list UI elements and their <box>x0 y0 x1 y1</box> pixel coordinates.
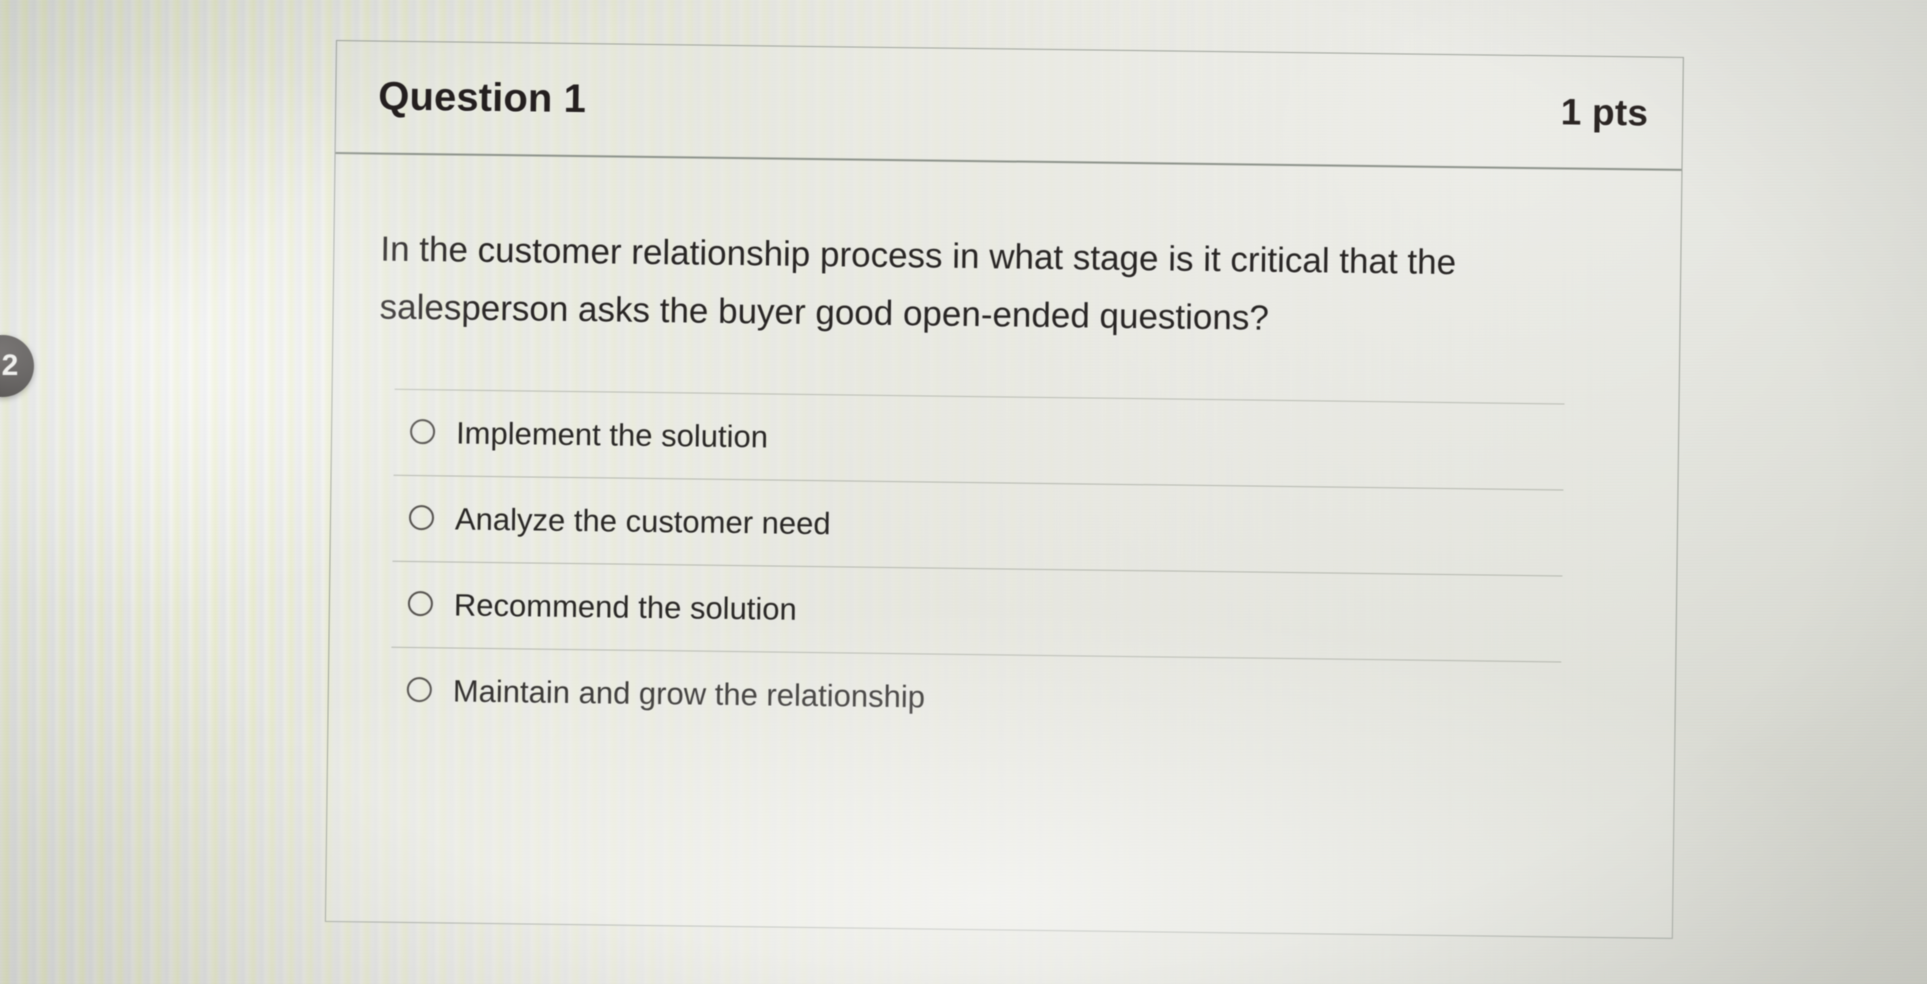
question-points-badge: 1 pts <box>1561 91 1649 134</box>
answer-option-label: Recommend the solution <box>454 590 797 625</box>
answer-option-4[interactable]: Maintain and grow the relationship <box>390 647 1561 748</box>
photo-backdrop: Question 1 1 pts In the customer relatio… <box>0 0 1927 984</box>
question-card-header: Question 1 1 pts <box>336 41 1683 171</box>
answer-options-list: Implement the solution Analyze the custo… <box>328 388 1678 749</box>
radio-button-icon[interactable] <box>408 590 433 615</box>
question-prompt-text: In the customer relationship process in … <box>333 154 1681 353</box>
question-card: Question 1 1 pts In the customer relatio… <box>325 40 1684 939</box>
radio-button-icon[interactable] <box>409 504 434 529</box>
question-card-wrapper: Question 1 1 pts In the customer relatio… <box>325 40 1684 939</box>
radio-button-icon[interactable] <box>410 418 435 443</box>
answer-option-label: Analyze the customer need <box>455 504 831 540</box>
answer-option-label: Maintain and grow the relationship <box>453 676 926 713</box>
edge-badge-number: 2 <box>0 351 18 381</box>
radio-button-icon[interactable] <box>407 676 432 701</box>
answer-option-1[interactable]: Implement the solution <box>394 389 1565 490</box>
answer-option-label: Implement the solution <box>456 418 768 453</box>
question-title: Question 1 <box>378 75 586 123</box>
question-card-body: In the customer relationship process in … <box>328 154 1681 749</box>
answer-option-2[interactable]: Analyze the customer need <box>392 475 1563 576</box>
answer-option-3[interactable]: Recommend the solution <box>391 561 1562 662</box>
